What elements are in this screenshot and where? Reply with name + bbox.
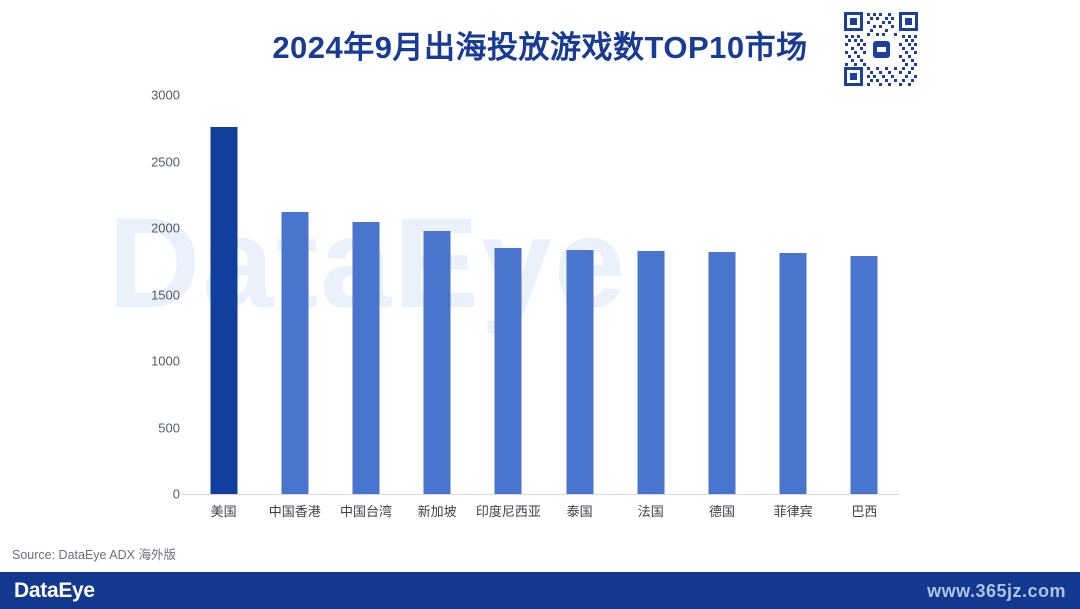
bar[interactable]: [708, 252, 735, 494]
bar[interactable]: [424, 231, 451, 494]
bar-group: [473, 95, 544, 494]
chart-page: 2024年9月出海投放游戏数TOP10市场: [0, 0, 1080, 609]
y-axis-tick: 1500: [128, 287, 180, 302]
bar[interactable]: [281, 212, 308, 494]
bar-group: [829, 95, 900, 494]
bar[interactable]: [495, 248, 522, 494]
y-axis: 050010001500200025003000: [128, 95, 180, 535]
bar-group: [330, 95, 401, 494]
x-axis-label: 菲律宾: [758, 501, 829, 520]
x-axis-label: 新加坡: [402, 501, 473, 520]
bar-group: [402, 95, 473, 494]
y-axis-tick: 500: [128, 420, 180, 435]
dataeye-logo: DataEye: [14, 579, 95, 603]
x-axis-label: 中国台湾: [330, 501, 401, 520]
x-axis-label: 德国: [686, 501, 757, 520]
x-axis-label: 巴西: [829, 501, 900, 520]
source-note: Source: DataEye ADX 海外版: [12, 544, 176, 563]
x-axis-label: 中国香港: [259, 501, 330, 520]
x-axis-label: 泰国: [544, 501, 615, 520]
qr-code-icon[interactable]: [840, 8, 922, 90]
bar-group: [544, 95, 615, 494]
x-axis-label: 法国: [615, 501, 686, 520]
bar[interactable]: [352, 222, 379, 494]
x-axis-label: 美国: [188, 501, 259, 520]
y-axis-tick: 3000: [128, 88, 180, 103]
bar[interactable]: [637, 251, 664, 494]
bar-group: [758, 95, 829, 494]
plot-area: 美国中国香港中国台湾新加坡印度尼西亚泰国法国德国菲律宾巴西: [188, 95, 900, 535]
site-watermark: www.365jz.com: [927, 581, 1066, 602]
bar[interactable]: [210, 127, 237, 494]
y-axis-tick: 2500: [128, 154, 180, 169]
y-axis-tick: 1000: [128, 354, 180, 369]
bar-group: [188, 95, 259, 494]
y-axis-tick: 2000: [128, 221, 180, 236]
bar[interactable]: [780, 253, 807, 494]
footer-bar: DataEye www.365jz.com: [0, 572, 1080, 609]
bar-group: [615, 95, 686, 494]
y-axis-tick: 0: [128, 487, 180, 502]
bar-group: [686, 95, 757, 494]
bar[interactable]: [566, 250, 593, 494]
bar[interactable]: [851, 256, 878, 494]
x-axis-line: [182, 494, 900, 495]
bar-chart: DataEye 050010001500200025003000 美国中国香港中…: [0, 95, 1080, 535]
bar-group: [259, 95, 330, 494]
x-axis-label: 印度尼西亚: [473, 501, 544, 520]
